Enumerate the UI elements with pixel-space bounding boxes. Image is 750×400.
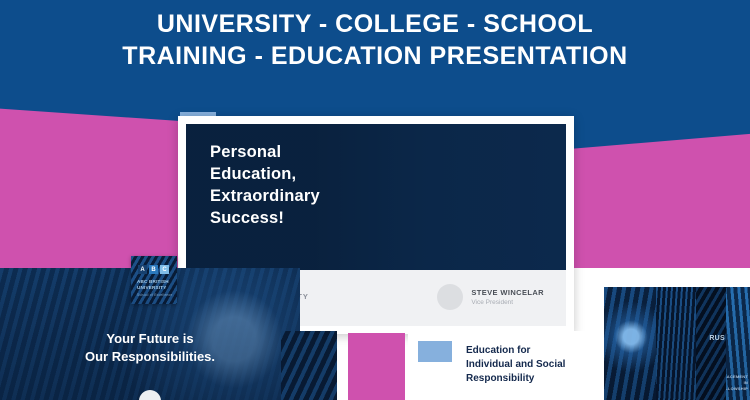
presentation-preview: UNIVERSITY - COLLEGE - SCHOOL TRAINING -… <box>0 0 750 400</box>
slide-title-line-4: Success! <box>210 208 320 230</box>
collage-photo-graduate <box>604 287 656 400</box>
presenter-name: STEVE WINCELAR <box>471 288 544 297</box>
magenta-shape-left <box>0 108 200 268</box>
bottom-right-title-line-2: Individual and Social <box>466 358 565 372</box>
bottom-right-title: Education for Individual and Social Resp… <box>466 344 565 387</box>
slide-hero-image: Personal Education, Extraordinary Succes… <box>186 124 566 270</box>
collage-photo-students: PLACEMENT IN FELLOWSHIP <box>726 287 750 400</box>
magenta-shape-right <box>560 133 750 273</box>
bottom-left-title-line-1: Your Future is <box>0 330 300 348</box>
bottom-right-title-line-1: Education for <box>466 344 565 358</box>
thumbnail-logo-letter-b: B <box>149 265 158 274</box>
bottom-middle-dark-slide[interactable] <box>281 331 337 400</box>
thumbnail-title-line-2: UNIVERSITY <box>137 285 167 290</box>
thumbnail-tagline: School of Excellence <box>137 293 172 297</box>
collage-badge: RUS <box>709 335 725 342</box>
thumbnail-title-line-1: ABC BRITISH <box>137 279 169 284</box>
thumbnail-slide-card[interactable]: A B C ABC BRITISH UNIVERSITY School of E… <box>131 256 177 304</box>
right-photo-collage[interactable]: RUS PLACEMENT IN FELLOWSHIP <box>604 287 750 400</box>
slide-title-line-3: Extraordinary <box>210 186 320 208</box>
page-title-line1: UNIVERSITY - COLLEGE - SCHOOL <box>157 10 593 38</box>
presenter-text: STEVE WINCELAR Vice President <box>471 288 544 306</box>
bottom-right-title-line-3: Responsibility <box>466 372 565 386</box>
collage-caption: PLACEMENT IN FELLOWSHIP <box>726 374 748 392</box>
thumbnail-logo: A B C <box>138 265 169 274</box>
thumbnail-title: ABC BRITISH UNIVERSITY <box>137 279 169 290</box>
slide-title-line-2: Education, <box>210 164 320 186</box>
slide-title: Personal Education, Extraordinary Succes… <box>210 142 320 230</box>
bottom-magenta-card[interactable] <box>348 333 405 400</box>
avatar <box>437 284 463 310</box>
bottom-middle-photo <box>281 331 337 400</box>
bottom-right-accent-square <box>418 341 452 362</box>
thumbnail-logo-letter-a: A <box>138 265 147 274</box>
thumbnail-logo-letter-c: C <box>160 265 169 274</box>
presenter-role: Vice President <box>471 299 544 306</box>
bottom-left-title-line-2: Our Responsibilities. <box>0 348 300 366</box>
page-title-line2: TRAINING - EDUCATION PRESENTATION <box>0 40 750 72</box>
presenter-block: STEVE WINCELAR Vice President <box>437 284 544 310</box>
collage-photo-crowd <box>656 287 696 400</box>
bottom-left-title: Your Future is Our Responsibilities. <box>0 330 300 365</box>
slide-title-line-1: Personal <box>210 142 320 164</box>
collage-photo-ceremony: RUS <box>696 287 726 400</box>
page-title: UNIVERSITY - COLLEGE - SCHOOL TRAINING -… <box>0 8 750 72</box>
